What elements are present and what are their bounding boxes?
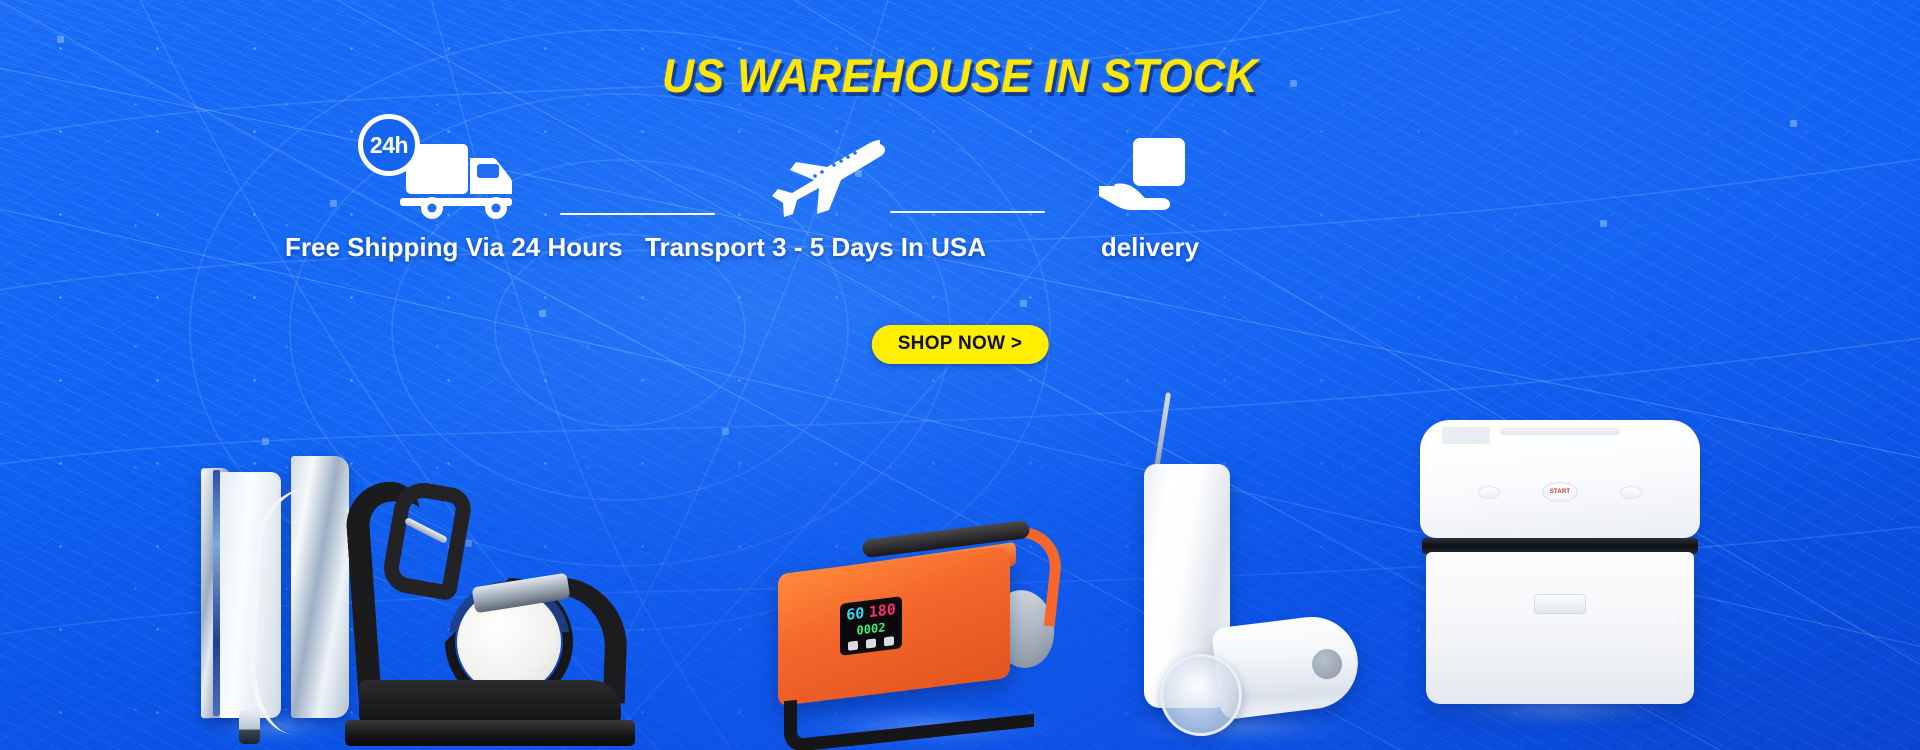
product-mug-heating-element	[195, 440, 355, 740]
press-base	[345, 720, 635, 746]
display-timer: 180	[869, 602, 896, 620]
oven-lid-vent	[1500, 428, 1620, 435]
product-strip: 60 180 0002	[0, 280, 1920, 750]
feature-delivery: delivery	[1010, 128, 1290, 263]
heating-plate-edge	[213, 470, 220, 716]
oven-keep-warm-button[interactable]	[1620, 486, 1642, 499]
oven-warning-label	[1442, 427, 1490, 444]
badge-24h: 24h	[358, 114, 420, 176]
hand-package-icon	[1095, 134, 1205, 220]
oven-lid: START	[1420, 420, 1700, 538]
feature-label-delivery: delivery	[1010, 232, 1290, 263]
tumbler-lid	[1160, 654, 1242, 736]
promo-banner: US WAREHOUSE IN STOCK 24h	[0, 0, 1920, 750]
truck-icon: 24h	[360, 128, 530, 220]
feature-label-transport: Transport 3 - 5 Days In USA	[645, 232, 975, 263]
press-body	[359, 680, 621, 724]
feature-label-free-shipping: Free Shipping Via 24 Hours	[285, 232, 605, 263]
oven-mode-button[interactable]	[1478, 486, 1500, 499]
product-tumblers	[1120, 442, 1360, 742]
product-manual-mug-press	[345, 446, 635, 746]
product-orange-mug-press: 60 180 0002	[770, 474, 1080, 744]
oven-body	[1426, 552, 1694, 704]
product-sublimation-oven: START	[1420, 420, 1700, 710]
truck-icon-wrap: 24h	[285, 128, 605, 220]
oven-start-button[interactable]: START	[1542, 482, 1578, 502]
tumbler-straw	[1154, 392, 1171, 470]
display-button-3[interactable]	[884, 636, 894, 646]
feature-transport: Transport 3 - 5 Days In USA	[645, 128, 975, 263]
feature-free-shipping: 24h Free S	[285, 128, 605, 263]
airplane-icon	[730, 134, 890, 220]
feature-row: 24h Free S	[0, 128, 1920, 268]
hand-package-icon-wrap	[1010, 128, 1290, 220]
oven-door-latch[interactable]	[1534, 594, 1586, 614]
banner-headline: US WAREHOUSE IN STOCK	[58, 48, 1863, 103]
display-button-1[interactable]	[848, 641, 858, 651]
display-buttons[interactable]	[844, 636, 898, 652]
airplane-icon-wrap	[645, 128, 975, 220]
display-temperature: 60	[846, 606, 864, 623]
display-button-2[interactable]	[866, 638, 876, 648]
cable-connector	[239, 710, 260, 744]
control-panel-display[interactable]: 60 180 0002	[840, 596, 902, 656]
